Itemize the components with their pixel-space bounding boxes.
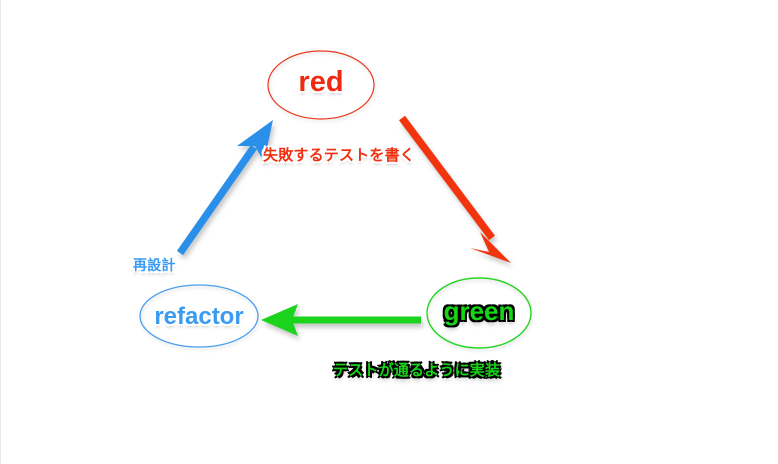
edge-caption-green-to-refactor: テストが通るように実装 xyxy=(333,359,500,380)
tdd-cycle-diagram: red green refactor 失敗するテストを書く テストが通るように実… xyxy=(0,0,778,464)
node-label-refactor: refactor xyxy=(140,303,258,331)
diagram-canvas-svg xyxy=(0,0,778,464)
node-label-green: green xyxy=(427,296,531,327)
arrow-red-to-green[interactable] xyxy=(402,118,511,263)
arrow-green-to-refactor[interactable] xyxy=(261,304,421,336)
node-label-red: red xyxy=(268,66,374,99)
arrow-refactor-to-red[interactable] xyxy=(180,120,273,253)
edge-caption-red-to-green: 失敗するテストを書く xyxy=(263,144,415,165)
edge-caption-refactor-to-red: 再設計 xyxy=(133,255,176,275)
